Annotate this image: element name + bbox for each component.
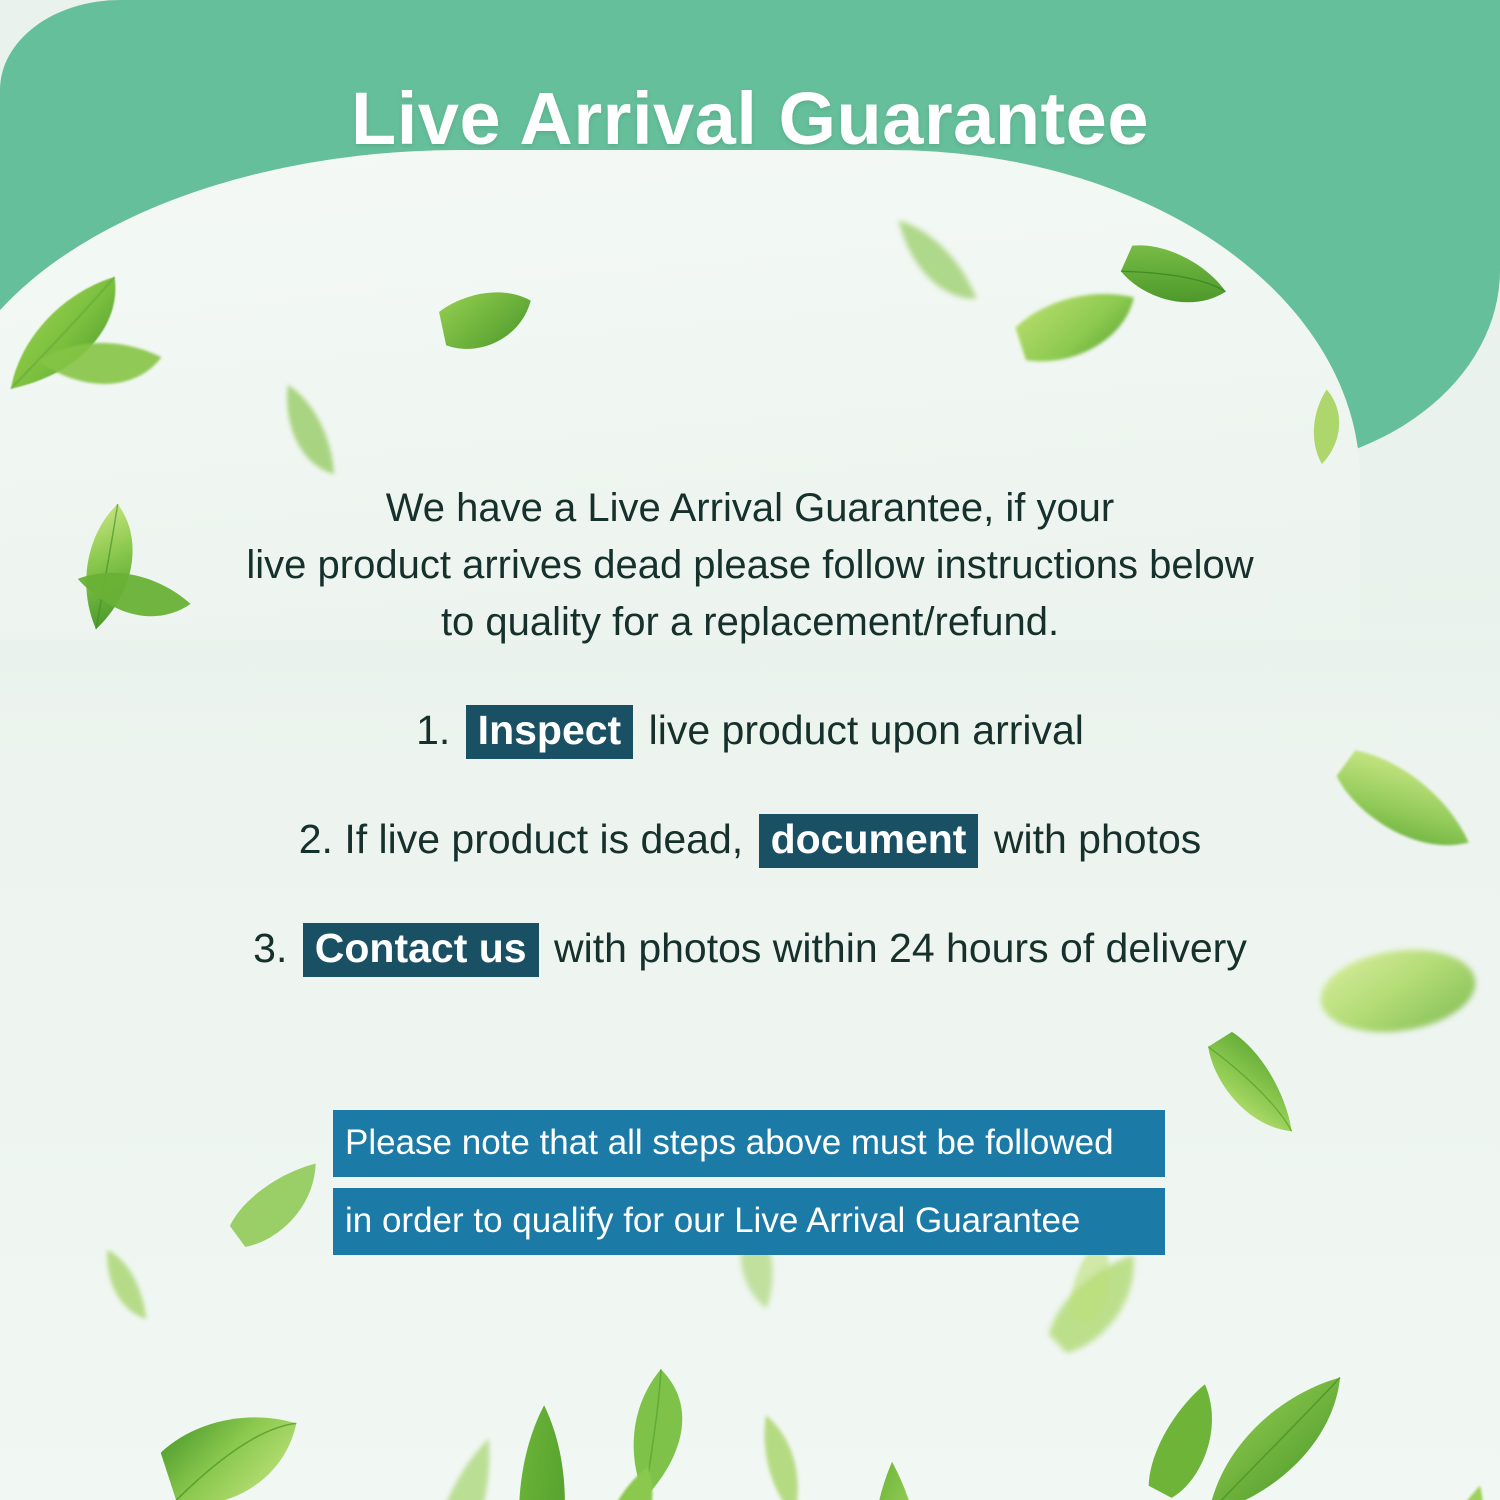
- intro-line-2: live product arrives dead please follow …: [150, 537, 1350, 594]
- note-banner-line-2: in order to qualify for our Live Arrival…: [333, 1188, 1165, 1255]
- step-2-highlight[interactable]: document: [759, 814, 979, 868]
- step-1-highlight[interactable]: Inspect: [466, 705, 634, 759]
- step-1: 1. Inspect live product upon arrival: [0, 705, 1500, 759]
- step-1-number: 1.: [416, 707, 450, 753]
- intro-paragraph: We have a Live Arrival Guarantee, if you…: [150, 480, 1350, 650]
- intro-line-3: to quality for a replacement/refund.: [150, 594, 1350, 651]
- step-3-highlight[interactable]: Contact us: [303, 923, 539, 977]
- instruction-steps: 1. Inspect live product upon arrival 2. …: [0, 705, 1500, 1032]
- step-2-number: 2.: [299, 816, 333, 862]
- step-1-text-after: live product upon arrival: [649, 707, 1084, 753]
- page-title: Live Arrival Guarantee: [0, 78, 1500, 159]
- step-3: 3. Contact us with photos within 24 hour…: [0, 923, 1500, 977]
- step-2: 2. If live product is dead, document wit…: [0, 814, 1500, 868]
- live-arrival-guarantee-graphic: Live Arrival Guarantee We have a Live Ar…: [0, 0, 1500, 1500]
- intro-line-1: We have a Live Arrival Guarantee, if you…: [150, 480, 1350, 537]
- step-3-number: 3.: [253, 925, 287, 971]
- step-2-text-before: If live product is dead,: [344, 816, 743, 862]
- step-3-text-after: with photos within 24 hours of delivery: [554, 925, 1247, 971]
- note-banner-line-1: Please note that all steps above must be…: [333, 1110, 1165, 1177]
- step-2-text-after: with photos: [994, 816, 1201, 862]
